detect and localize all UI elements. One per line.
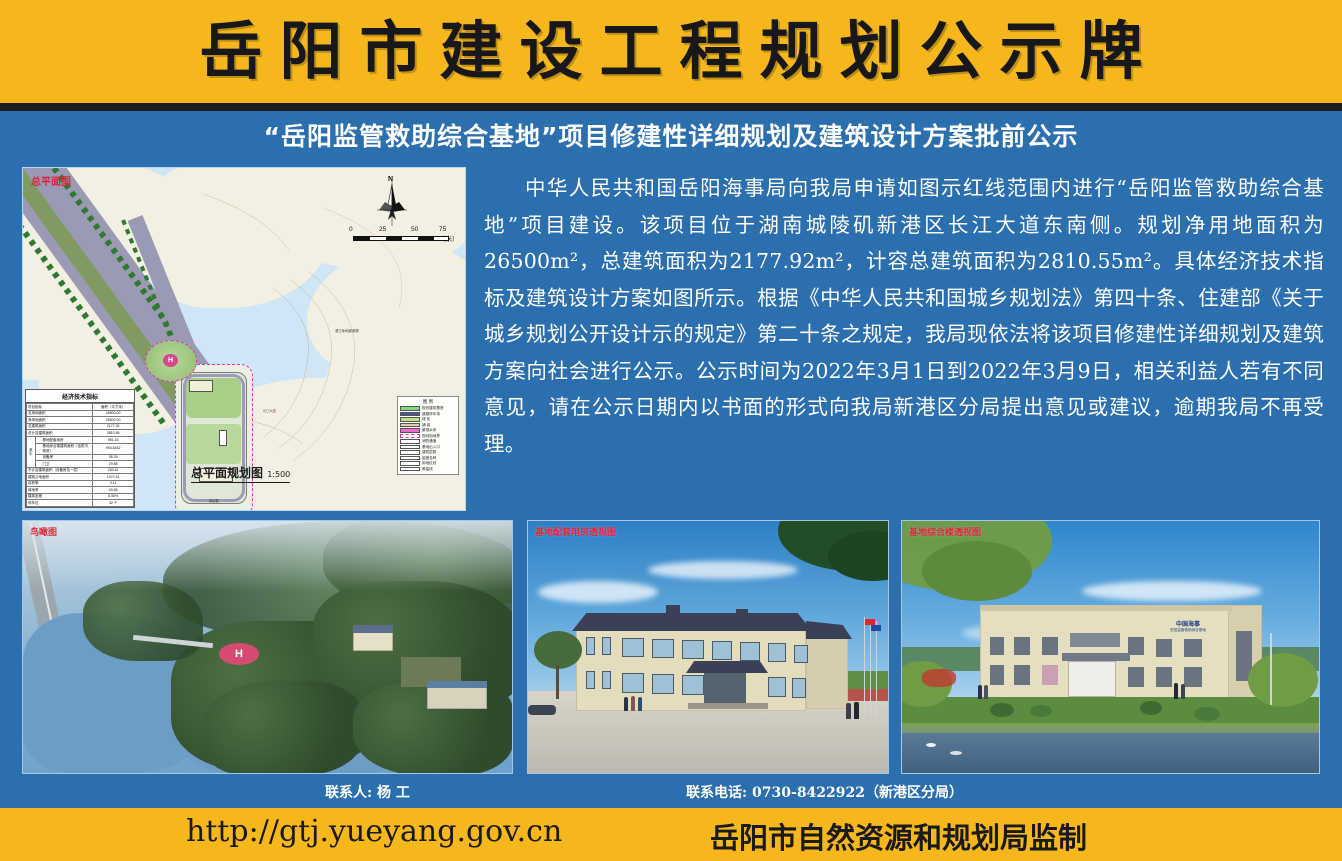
subtitle-bar: “岳阳监管救助综合基地”项目修建性详细规划及建筑设计方案批前公示 (0, 111, 1342, 159)
legend-label: 景观水体 (422, 428, 436, 433)
site-plan-caption-text: 总平面规划图 (191, 466, 263, 480)
econ-row-value: 994.6432 (93, 443, 134, 454)
legend-label: 道路停车场 (422, 412, 440, 417)
legend-label: 铺 装 (422, 423, 430, 428)
legend-label: 规划用地界 (422, 434, 440, 439)
legend-item: 消防通道 (400, 439, 456, 444)
legend-label: 用地红线 (422, 461, 436, 466)
header-band: 岳阳市建设工程规划公示牌 (0, 0, 1342, 103)
photo-aerial-view: H 鸟瞰图 (22, 520, 513, 774)
map-legend: 图 例 规划建筑基底 道路停车场 绿 化 铺 装 景观水体 规划用地界 消防通道… (397, 396, 459, 475)
legend-swatch (400, 467, 420, 472)
legend-label: 规划建筑基底 (422, 406, 444, 411)
contact-phone: 联系电话: 0730-8422922（新港区分局） (686, 782, 963, 802)
site-plan-corner-label: 总平面图 (31, 173, 71, 188)
header-divider (0, 103, 1342, 111)
legend-item: 等高线 (400, 467, 456, 472)
legend-label: 建筑层数 (422, 450, 436, 455)
legend-label: 基地出入口 (422, 445, 440, 450)
econ-row-name: 基地综合楼建筑面积（含防汛物资） (35, 443, 93, 454)
legend-swatch (400, 423, 420, 428)
contact-row: 联系人: 杨 工 联系电话: 0730-8422922（新港区分局） (0, 778, 1342, 808)
econ-group-label: 其中 (27, 437, 36, 468)
site-plan-caption: 总平面规划图 1:500 (191, 464, 290, 483)
econ-row-value: 32 个 (93, 500, 134, 507)
site-plan-panel: H 滨江休闲景观带 长江大道 综合楼 N (22, 167, 466, 511)
notice-paragraph: 中华人民共和国岳阳海事局向我局申请如图示红线范围内进行“岳阳监管救助综合基地”项… (484, 170, 1324, 462)
legend-swatch (400, 445, 420, 450)
scale-tick-0: 0 (349, 226, 353, 233)
photo-label-aerial: 鸟瞰图 (30, 525, 57, 538)
legend-item: 景观水体 (400, 428, 456, 433)
legend-swatch (400, 461, 420, 466)
legend-label: 消防通道 (422, 439, 436, 444)
site-plan-drawing: H 滨江休闲景观带 长江大道 综合楼 N (23, 168, 465, 510)
legend-item: 组团名称 (400, 456, 456, 461)
scale-bar: 0 25 50 75（米） (347, 226, 457, 246)
economic-indicator-table: 经济技术指标 项目指标 面积（平方米） 总用地面积26500.00 净用地面积2… (25, 389, 135, 508)
legend-item: 规划用地界 (400, 434, 456, 439)
legend-item: 道路停车场 (400, 412, 456, 417)
legend-item: 建筑层数 (400, 450, 456, 455)
photo-complex-building: 中国海事 岳阳监管救助综合基地 (901, 520, 1320, 774)
legend-item: 铺 装 (400, 423, 456, 428)
aerial-helipad: H (219, 643, 259, 665)
contact-person: 联系人: 杨 工 (325, 782, 410, 802)
footer-organization: 岳阳市自然资源和规划局监制 (710, 815, 1087, 857)
building-sign-line1: 中国海事 (1152, 619, 1224, 628)
econ-table-title: 经济技术指标 (26, 390, 134, 403)
scale-tick-50: 50 (411, 226, 418, 233)
legend-swatch (400, 439, 420, 444)
legend-label: 组团名称 (422, 456, 436, 461)
legend-item: 基地出入口 (400, 445, 456, 450)
footer-url[interactable]: http://gtj.yueyang.gov.cn (186, 814, 562, 849)
legend-swatch (400, 428, 420, 433)
table-row: 基地综合楼建筑面积（含防汛物资）994.6432 (27, 443, 134, 454)
project-subtitle: “岳阳监管救助综合基地”项目修建性详细规划及建筑设计方案批前公示 (264, 117, 1079, 153)
legend-swatch (400, 406, 420, 411)
legend-item: 绿 化 (400, 417, 456, 422)
helipad-marker: H (163, 354, 178, 367)
legend-swatch (400, 450, 420, 455)
page-title: 岳阳市建设工程规划公示牌 (183, 20, 1160, 83)
legend-label: 等高线 (422, 467, 433, 472)
legend-swatch (400, 434, 420, 439)
photo-ancillary-building: 基地配套用房透视图 (527, 520, 889, 774)
publicity-board: 岳阳市建设工程规划公示牌 “岳阳监管救助综合基地”项目修建性详细规划及建筑设计方… (0, 0, 1342, 861)
econ-row-name: 停车位 (27, 500, 93, 507)
scale-tick-25: 25 (379, 226, 386, 233)
legend-swatch (400, 412, 420, 417)
building-sign-line2: 岳阳监管救助综合基地 (1152, 628, 1224, 633)
footer-band: http://gtj.yueyang.gov.cn 岳阳市自然资源和规划局监制 (0, 808, 1342, 861)
legend-swatch (400, 456, 420, 461)
photo-label-complex: 基地综合楼透视图 (909, 525, 981, 538)
legend-item: 规划建筑基底 (400, 406, 456, 411)
legend-label: 绿 化 (422, 417, 430, 422)
legend-swatch (400, 417, 420, 422)
legend-item: 用地红线 (400, 461, 456, 466)
site-plan-scale: 1:500 (267, 470, 290, 479)
legend-title: 图 例 (400, 399, 456, 405)
table-row: 停车位32 个 (27, 500, 134, 507)
photo-label-ancillary: 基地配套用房透视图 (535, 525, 616, 538)
